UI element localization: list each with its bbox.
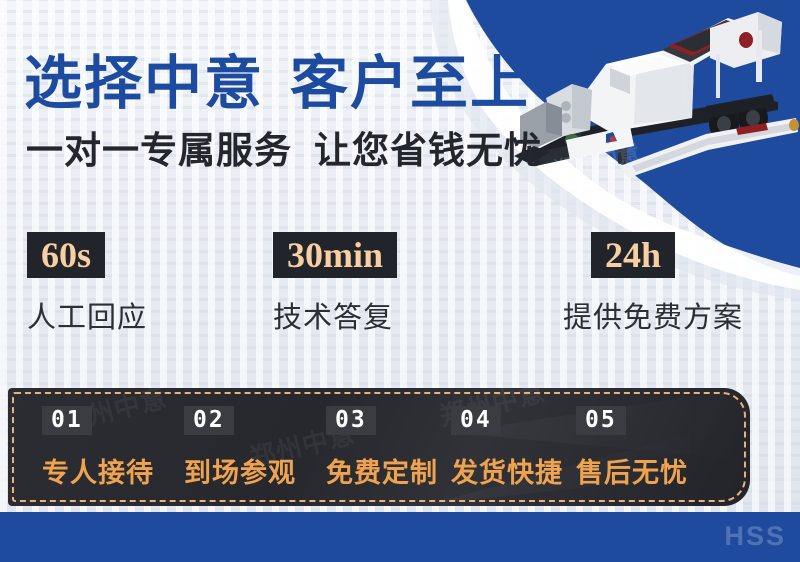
footer-blue-band	[0, 512, 800, 562]
badge-value: 30min	[273, 232, 397, 278]
page-title: 选择中意客户至上	[24, 55, 530, 113]
brand-mark: HSS	[724, 521, 786, 552]
step-item-1[interactable]: 01 专人接待	[42, 406, 154, 490]
step-number: 02	[184, 406, 234, 435]
badge-label: 提供免费方案	[563, 294, 743, 336]
badge-label: 技术答复	[273, 294, 397, 336]
badge-value: 24h	[591, 232, 675, 278]
badge-value: 60s	[27, 232, 105, 278]
step-item-3[interactable]: 03 免费定制	[326, 406, 438, 490]
step-number: 04	[451, 406, 501, 435]
step-item-5[interactable]: 05 售后无忧	[576, 406, 688, 490]
step-item-2[interactable]: 02 到场参观	[184, 406, 296, 490]
badge-item-response: 60s 人工回应	[27, 232, 147, 336]
page-subtitle: 一对一专属服务让您省钱无忧	[26, 132, 542, 169]
service-badges: 60s 人工回应 30min 技术答复 24h 提供免费方案	[0, 232, 800, 342]
machine-illustration: 郑州中意	[510, 6, 800, 202]
subline-part-2: 让您省钱无忧	[314, 130, 542, 171]
step-label: 到场参观	[184, 451, 296, 490]
subline-part-1: 一对一专属服务	[26, 130, 292, 171]
badge-item-free-plan: 24h 提供免费方案	[563, 232, 743, 336]
process-steps-banner: 郑州中意 郑州中意 郑州中意 01 专人接待 02 到场参观 03 免费定制 0…	[8, 388, 750, 506]
headline-part-1: 选择中意	[24, 51, 264, 116]
step-label: 发货快捷	[451, 451, 563, 490]
promo-banner: 郑州中意 选择中意客户至上 一对一专属服务让您省钱无忧 60s 人工回应 30m…	[0, 0, 800, 562]
step-number: 01	[42, 406, 92, 435]
step-number: 03	[326, 406, 376, 435]
step-label: 专人接待	[42, 451, 154, 490]
headline-part-2: 客户至上	[290, 51, 530, 116]
badge-label: 人工回应	[27, 294, 147, 336]
badge-item-technical: 30min 技术答复	[273, 232, 397, 336]
step-label: 售后无忧	[576, 451, 688, 490]
step-number: 05	[576, 406, 626, 435]
step-label: 免费定制	[326, 451, 438, 490]
step-item-4[interactable]: 04 发货快捷	[451, 406, 563, 490]
steps-list: 01 专人接待 02 到场参观 03 免费定制 04 发货快捷 05 售后无忧	[8, 388, 750, 506]
